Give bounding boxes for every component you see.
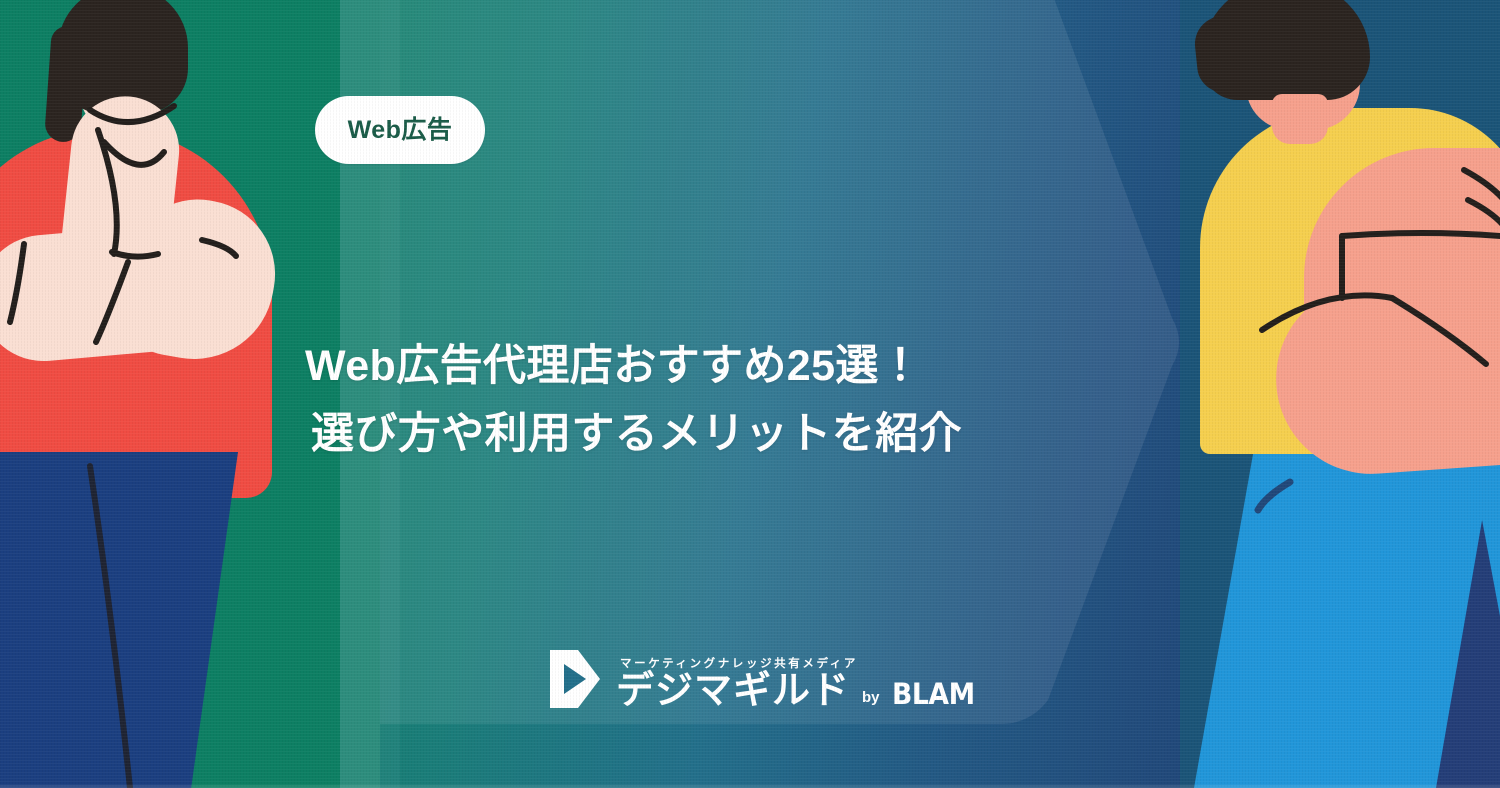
category-badge-label: Web広告: [348, 118, 453, 143]
logo-by-label: by: [862, 690, 880, 710]
logo-text-block: マーケティングナレッジ共有メディア デジマギルド by BLAM: [616, 659, 981, 711]
logo-brand-name: デジマギルド: [616, 672, 850, 710]
article-hero-banner: Web広告 Web広告代理店おすすめ25選！ 選び方や利用するメリットを紹介 マ…: [0, 0, 1500, 788]
logo-parent-brand: BLAM: [892, 680, 975, 710]
headline-line-2: 選び方や利用するメリットを紹介: [305, 401, 1085, 469]
category-badge[interactable]: Web広告: [315, 96, 485, 164]
play-triangle-d-mark-icon: [548, 648, 602, 710]
right-illustration-panel: [1180, 0, 1500, 788]
headline-line-1: Web広告代理店おすすめ25選！: [305, 342, 922, 390]
logo-brand-row: デジマギルド by BLAM: [616, 672, 981, 710]
right-person-line-details: [1180, 0, 1500, 788]
page-title: Web広告代理店おすすめ25選！ 選び方や利用するメリットを紹介: [305, 333, 1085, 469]
site-logo[interactable]: マーケティングナレッジ共有メディア デジマギルド by BLAM: [548, 648, 981, 710]
logo-tagline: マーケティングナレッジ共有メディア: [616, 659, 981, 671]
